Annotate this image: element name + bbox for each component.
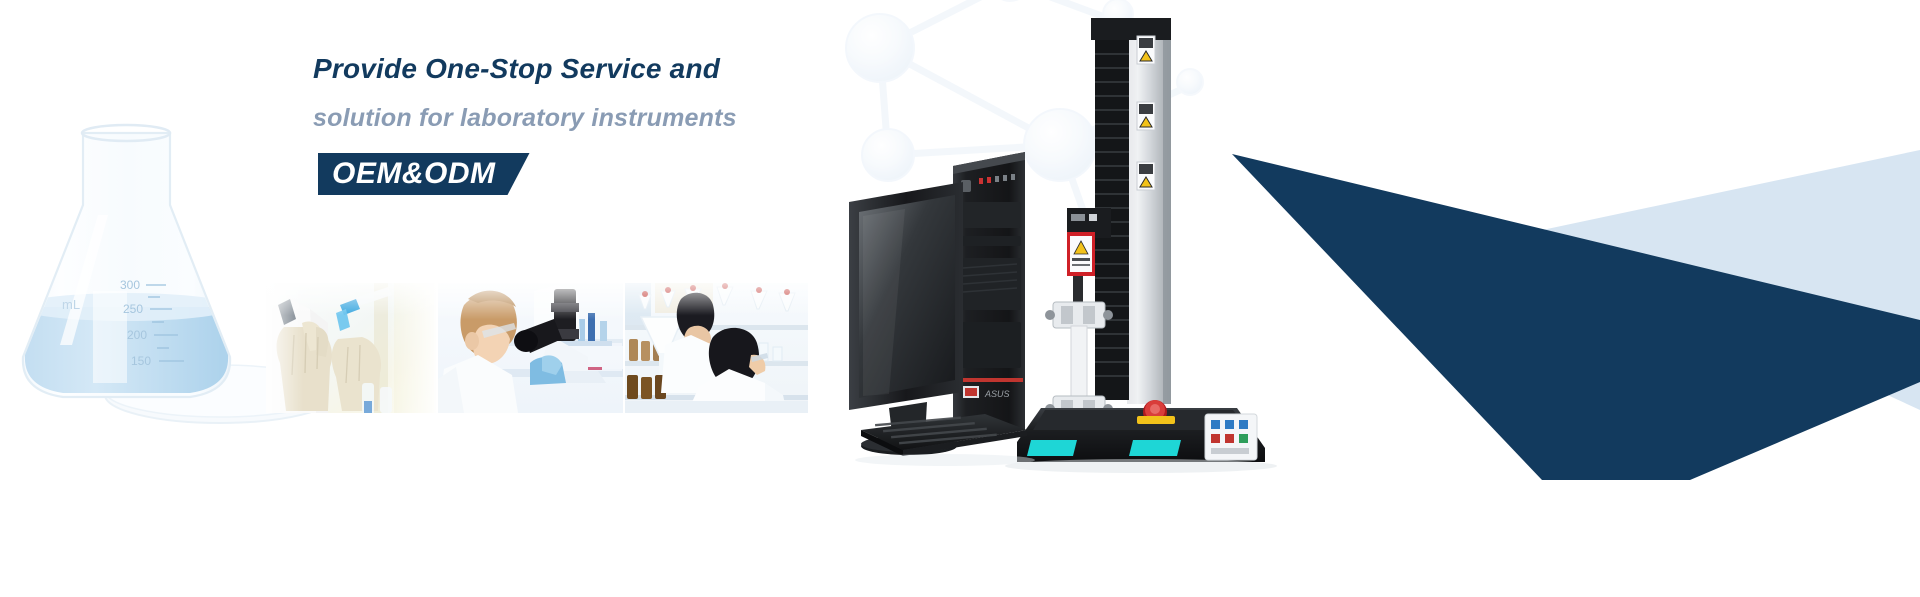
warning-label bbox=[1137, 36, 1155, 64]
flask-grad-300: 300 bbox=[120, 278, 140, 292]
thumbnail-strip bbox=[266, 283, 808, 413]
hero-banner: 300 250 200 150 mL Provide One-Stop Serv… bbox=[0, 0, 1920, 597]
warning-label bbox=[1137, 102, 1155, 130]
oem-odm-badge: OEM&ODM bbox=[318, 153, 530, 195]
warning-label bbox=[1137, 162, 1155, 190]
universal-testing-machine bbox=[1005, 18, 1277, 473]
flask-unit-label: mL bbox=[62, 297, 80, 312]
upper-grip bbox=[1045, 302, 1113, 328]
product-cluster: ASUS bbox=[845, 10, 1315, 480]
thumb-pipetting bbox=[266, 283, 436, 413]
flask-grad-200: 200 bbox=[127, 328, 147, 342]
svg-text:ASUS: ASUS bbox=[984, 389, 1010, 399]
desktop-tower: ASUS bbox=[953, 152, 1025, 442]
flask-grad-250: 250 bbox=[123, 302, 143, 316]
desktop-monitor bbox=[849, 182, 963, 455]
flask-grad-150: 150 bbox=[131, 354, 151, 368]
thumb-microscope bbox=[438, 283, 623, 413]
thumb-lab-team bbox=[625, 283, 808, 413]
oem-odm-badge-label: OEM&ODM bbox=[332, 159, 496, 189]
